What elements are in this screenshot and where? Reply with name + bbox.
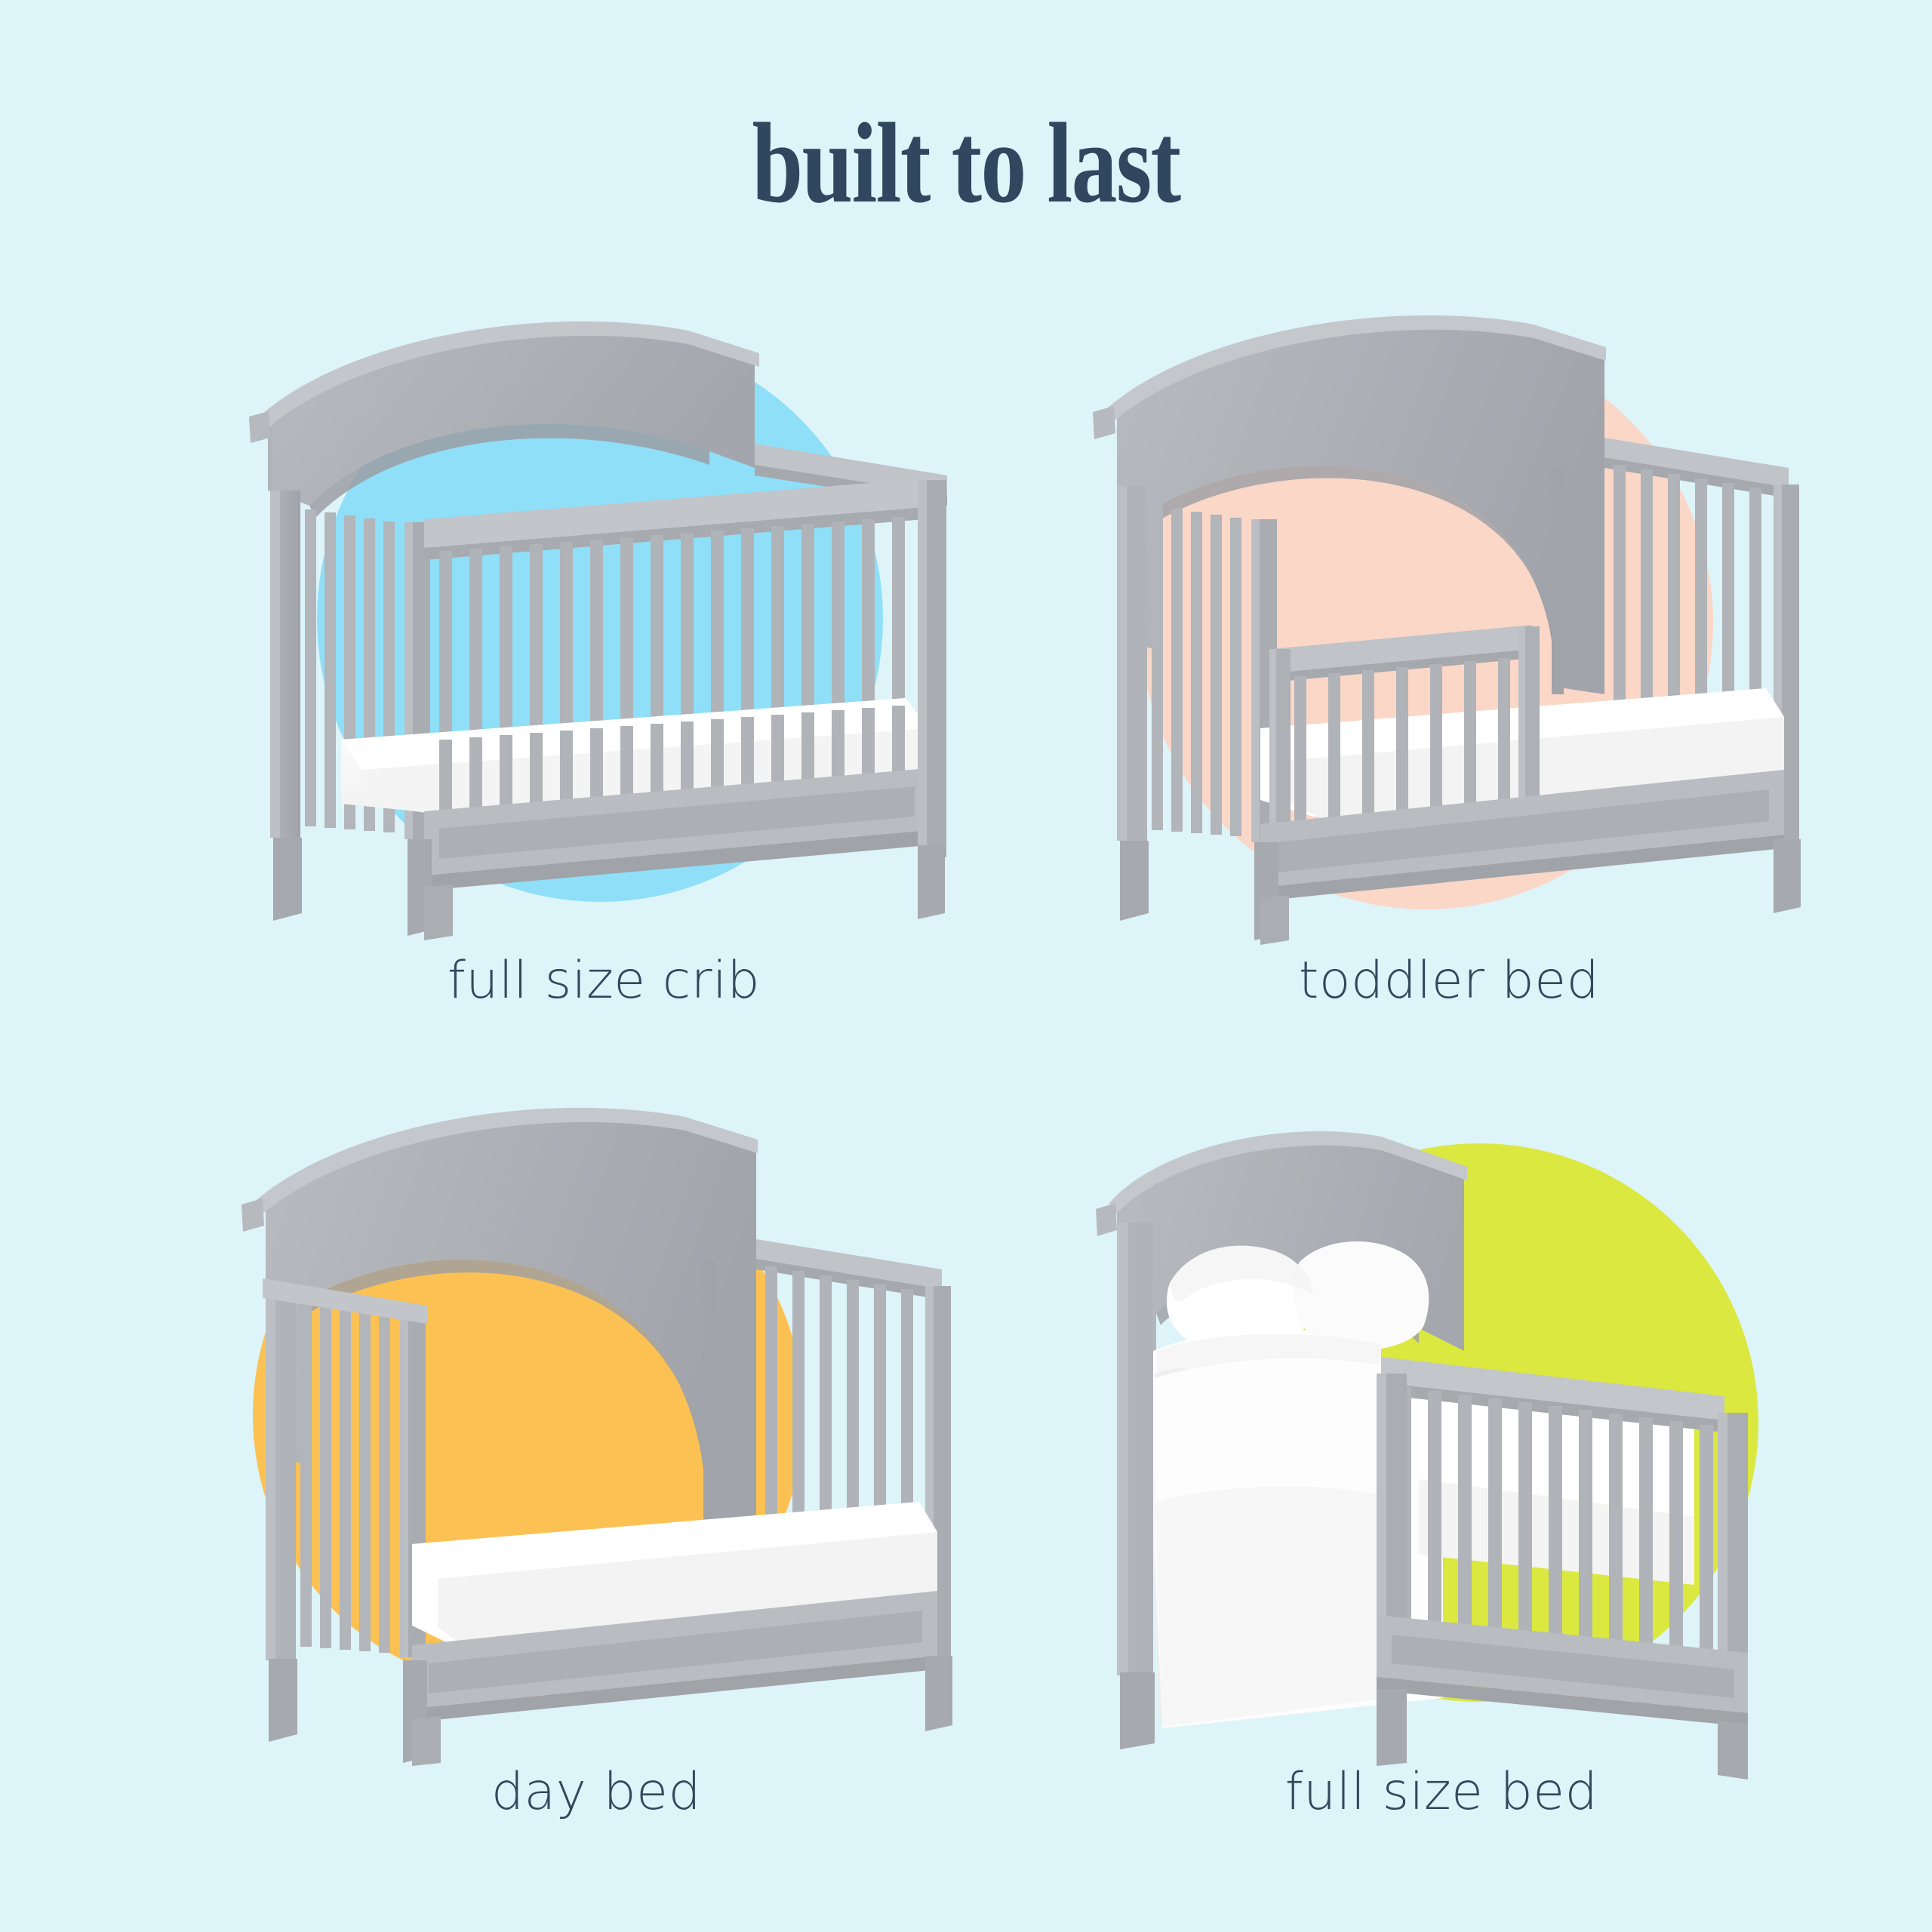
caption-full-size-bed: full size bed	[1057, 1762, 1826, 1822]
toddler-bed-illustration	[1072, 317, 1826, 943]
caption-day-bed: day bed	[219, 1762, 974, 1822]
caption-toddler-bed: toddler bed	[1072, 951, 1826, 1011]
full-size-bed-illustration	[1057, 1124, 1826, 1766]
product-panel-full-size-crib: full size crib	[226, 317, 981, 1034]
page-title: built to last	[193, 106, 1739, 220]
full-size-crib-illustration	[226, 317, 981, 943]
product-panel-toddler-bed: toddler bed	[1072, 317, 1826, 1034]
day-bed-illustration	[219, 1124, 974, 1766]
product-panel-full-size-bed: full size bed	[1057, 1124, 1826, 1879]
product-panel-day-bed: day bed	[219, 1124, 974, 1879]
caption-full-size-crib: full size crib	[226, 951, 981, 1011]
